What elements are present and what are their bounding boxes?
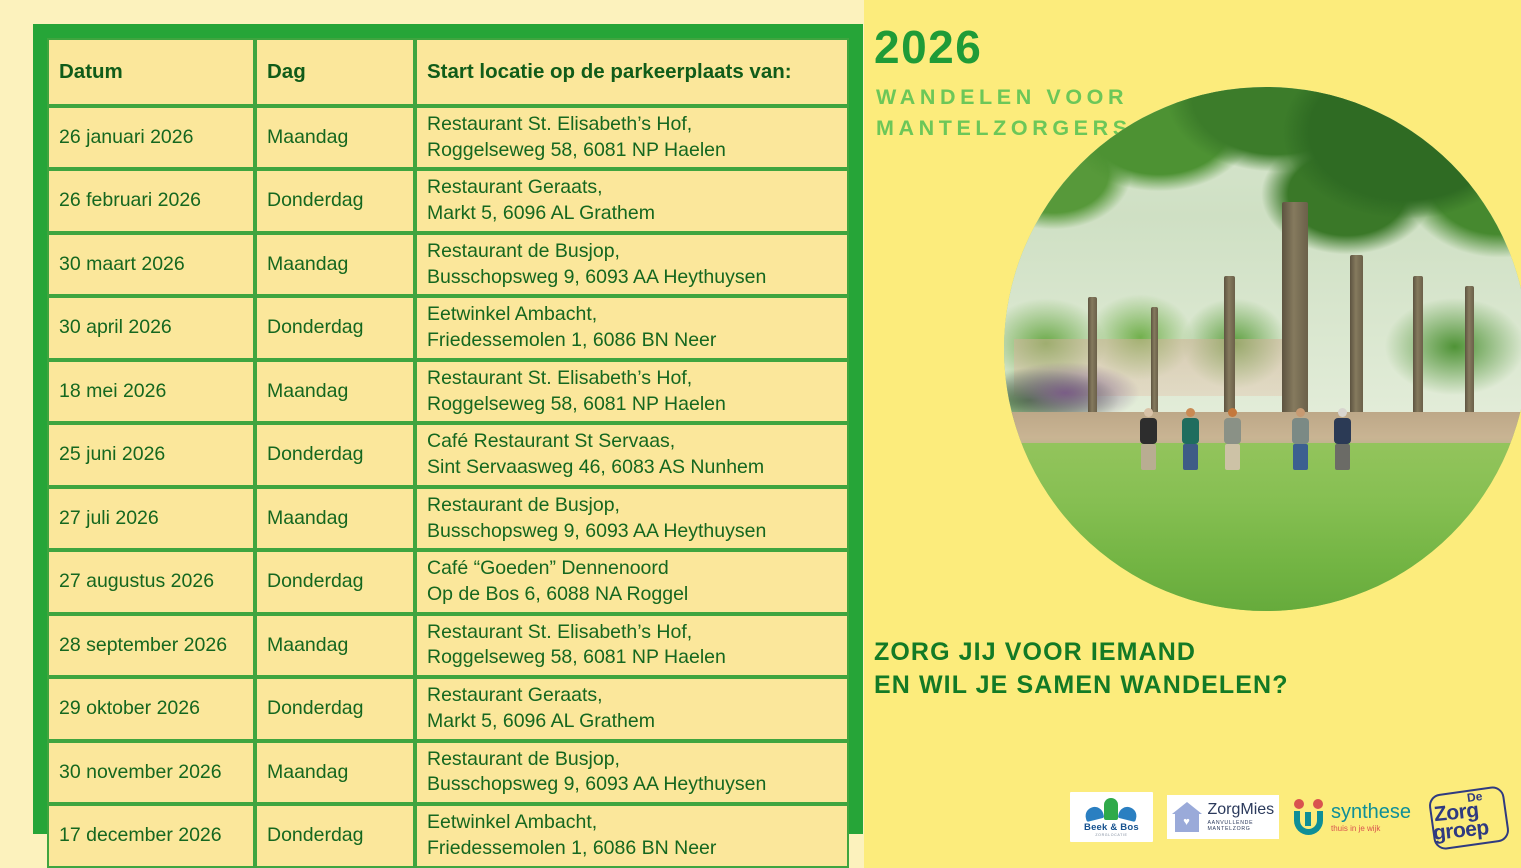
- column-header-location: Start locatie op de parkeerplaats van:: [415, 38, 849, 106]
- location-line-1: Restaurant Geraats,: [427, 683, 837, 709]
- logo-beek-en-bos-sub: ZORGLOCATIE: [1095, 833, 1127, 837]
- cell-date: 27 augustus 2026: [47, 550, 255, 613]
- cell-location: Café “Goeden” Dennenoord Op de Bos 6, 60…: [415, 550, 849, 613]
- cell-location: Restaurant de Busjop, Busschopsweg 9, 60…: [415, 233, 849, 296]
- cell-day: Maandag: [255, 741, 415, 804]
- cell-location: Restaurant de Busjop, Busschopsweg 9, 60…: [415, 741, 849, 804]
- table-row: 17 december 2026 Donderdag Eetwinkel Amb…: [47, 804, 849, 867]
- cell-location: Café Restaurant St Servaas, Sint Servaas…: [415, 423, 849, 486]
- cell-date: 27 juli 2026: [47, 487, 255, 550]
- cell-date: 25 juni 2026: [47, 423, 255, 486]
- photo-tree-canopy: [1004, 87, 1521, 401]
- partner-logos: Beek & Bos ZORGLOCATIE ♥ ZorgMies AANVUL…: [1070, 786, 1510, 848]
- tree-trunk-icon: [1413, 276, 1423, 433]
- cell-date: 17 december 2026: [47, 804, 255, 867]
- location-line-2: Roggelseweg 58, 6081 NP Haelen: [427, 138, 837, 164]
- cell-location: Restaurant Geraats, Markt 5, 6096 AL Gra…: [415, 169, 849, 232]
- cell-date: 30 april 2026: [47, 296, 255, 359]
- cell-date: 26 februari 2026: [47, 169, 255, 232]
- table-row: 26 februari 2026 Donderdag Restaurant Ge…: [47, 169, 849, 232]
- location-line-1: Restaurant de Busjop,: [427, 747, 837, 773]
- walker-figure: [1182, 408, 1199, 470]
- location-line-2: Markt 5, 6096 AL Grathem: [427, 709, 837, 735]
- cell-location: Restaurant St. Elisabeth’s Hof, Roggelse…: [415, 360, 849, 423]
- poster-canvas: Datum Dag Start locatie op de parkeerpla…: [0, 0, 1521, 868]
- table-row: 30 april 2026 Donderdag Eetwinkel Ambach…: [47, 296, 849, 359]
- column-header-day: Dag: [255, 38, 415, 106]
- table-row: 18 mei 2026 Maandag Restaurant St. Elisa…: [47, 360, 849, 423]
- cell-location: Eetwinkel Ambacht, Friedessemolen 1, 608…: [415, 804, 849, 867]
- photo-lawn: [1004, 443, 1521, 611]
- location-line-1: Restaurant St. Elisabeth’s Hof,: [427, 620, 837, 646]
- table-row: 26 januari 2026 Maandag Restaurant St. E…: [47, 106, 849, 169]
- location-line-2: Busschopsweg 9, 6093 AA Heythuysen: [427, 519, 837, 545]
- table-row: 30 maart 2026 Maandag Restaurant de Busj…: [47, 233, 849, 296]
- location-line-1: Eetwinkel Ambacht,: [427, 810, 837, 836]
- park-walking-photo: [1004, 87, 1521, 611]
- location-line-2: Friedessemolen 1, 6086 BN Neer: [427, 328, 837, 354]
- location-line-2: Friedessemolen 1, 6086 BN Neer: [427, 836, 837, 862]
- poster-tagline: ZORG JIJ VOOR IEMAND EN WIL JE SAMEN WAN…: [874, 636, 1289, 703]
- cell-date: 29 oktober 2026: [47, 677, 255, 740]
- year-heading: 2026: [874, 24, 982, 70]
- cell-day: Maandag: [255, 233, 415, 296]
- cell-location: Restaurant Geraats, Markt 5, 6096 AL Gra…: [415, 677, 849, 740]
- location-line-1: Restaurant de Busjop,: [427, 239, 837, 265]
- logo-zorgmies: ♥ ZorgMies AANVULLENDE MANTELZORG: [1167, 795, 1279, 839]
- cell-day: Donderdag: [255, 423, 415, 486]
- tree-trunk-icon: [1465, 286, 1474, 433]
- logo-zorgmies-sub: AANVULLENDE MANTELZORG: [1208, 820, 1275, 832]
- cell-location: Eetwinkel Ambacht, Friedessemolen 1, 608…: [415, 296, 849, 359]
- cell-date: 26 januari 2026: [47, 106, 255, 169]
- location-line-2: Roggelseweg 58, 6081 NP Haelen: [427, 392, 837, 418]
- location-line-1: Café Restaurant St Servaas,: [427, 429, 837, 455]
- cell-day: Donderdag: [255, 550, 415, 613]
- cell-location: Restaurant St. Elisabeth’s Hof, Roggelse…: [415, 106, 849, 169]
- walker-figure: [1292, 408, 1309, 470]
- logo-beek-en-bos: Beek & Bos ZORGLOCATIE: [1070, 792, 1153, 842]
- location-line-2: Busschopsweg 9, 6093 AA Heythuysen: [427, 265, 837, 291]
- walker-figure: [1140, 408, 1157, 470]
- location-line-1: Restaurant St. Elisabeth’s Hof,: [427, 112, 837, 138]
- table-header-row: Datum Dag Start locatie op de parkeerpla…: [47, 38, 849, 106]
- cell-day: Donderdag: [255, 677, 415, 740]
- tree-trunk-icon: [1350, 255, 1363, 433]
- cell-date: 28 september 2026: [47, 614, 255, 677]
- cell-day: Donderdag: [255, 169, 415, 232]
- cell-date: 30 maart 2026: [47, 233, 255, 296]
- cell-day: Donderdag: [255, 804, 415, 867]
- location-line-2: Busschopsweg 9, 6093 AA Heythuysen: [427, 772, 837, 798]
- table-row: 28 september 2026 Maandag Restaurant St.…: [47, 614, 849, 677]
- location-line-1: Café “Goeden” Dennenoord: [427, 556, 837, 582]
- walker-figure: [1224, 408, 1241, 470]
- cell-day: Maandag: [255, 106, 415, 169]
- tagline-line-2: EN WIL JE SAMEN WANDELEN?: [874, 669, 1289, 702]
- location-line-2: Op de Bos 6, 6088 NA Roggel: [427, 582, 837, 608]
- house-heart-icon: ♥: [1172, 802, 1202, 832]
- tagline-line-1: ZORG JIJ VOOR IEMAND: [874, 636, 1289, 669]
- column-header-date: Datum: [47, 38, 255, 106]
- cell-day: Maandag: [255, 487, 415, 550]
- table-row: 30 november 2026 Maandag Restaurant de B…: [47, 741, 849, 804]
- walker-figure: [1334, 408, 1351, 470]
- walking-schedule-table: Datum Dag Start locatie op de parkeerpla…: [47, 38, 849, 868]
- tree-icon: [1085, 798, 1137, 820]
- logo-beek-en-bos-name: Beek & Bos: [1084, 822, 1139, 833]
- table-row: 27 juli 2026 Maandag Restaurant de Busjo…: [47, 487, 849, 550]
- location-line-1: Restaurant St. Elisabeth’s Hof,: [427, 366, 837, 392]
- cell-date: 30 november 2026: [47, 741, 255, 804]
- logo-zorgmies-name: ZorgMies: [1208, 802, 1275, 818]
- cell-location: Restaurant St. Elisabeth’s Hof, Roggelse…: [415, 614, 849, 677]
- two-people-icon: [1293, 799, 1324, 835]
- cell-day: Donderdag: [255, 296, 415, 359]
- cell-location: Restaurant de Busjop, Busschopsweg 9, 60…: [415, 487, 849, 550]
- location-line-1: Eetwinkel Ambacht,: [427, 302, 837, 328]
- logo-de-zorggroep: De Zorg groep: [1425, 786, 1510, 848]
- location-line-1: Restaurant Geraats,: [427, 175, 837, 201]
- tree-trunk-icon: [1282, 202, 1308, 433]
- logo-synthese-name: synthese: [1331, 802, 1411, 822]
- location-line-2: Roggelseweg 58, 6081 NP Haelen: [427, 645, 837, 671]
- table-row: 27 augustus 2026 Donderdag Café “Goeden”…: [47, 550, 849, 613]
- location-line-2: Sint Servaasweg 46, 6083 AS Nunhem: [427, 455, 837, 481]
- location-line-2: Markt 5, 6096 AL Grathem: [427, 201, 837, 227]
- table-row: 29 oktober 2026 Donderdag Restaurant Ger…: [47, 677, 849, 740]
- logo-synthese-sub: thuis in je wijk: [1331, 824, 1411, 833]
- table-row: 25 juni 2026 Donderdag Café Restaurant S…: [47, 423, 849, 486]
- cell-date: 18 mei 2026: [47, 360, 255, 423]
- location-line-1: Restaurant de Busjop,: [427, 493, 837, 519]
- schedule-table-frame: Datum Dag Start locatie op de parkeerpla…: [33, 24, 863, 834]
- cell-day: Maandag: [255, 614, 415, 677]
- logo-synthese: synthese thuis in je wijk: [1293, 794, 1411, 840]
- cell-day: Maandag: [255, 360, 415, 423]
